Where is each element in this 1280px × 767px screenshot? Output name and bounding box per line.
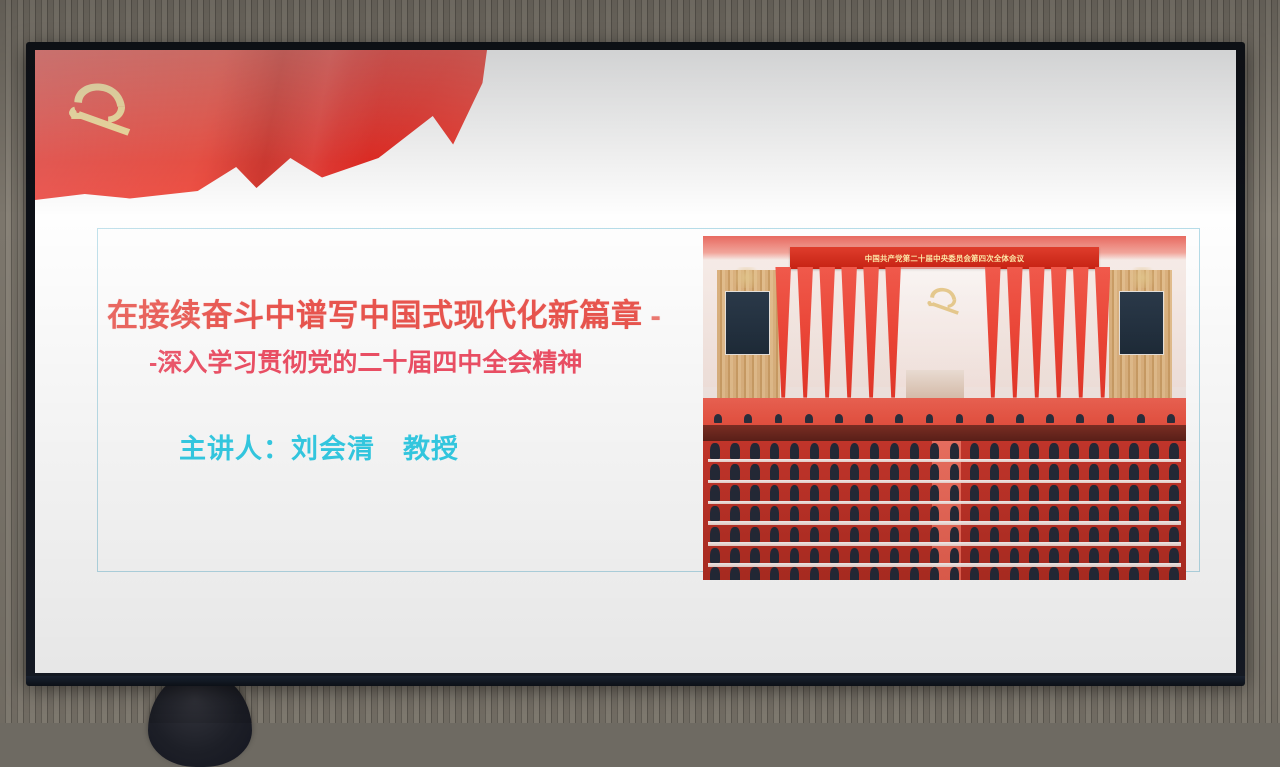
photo-audience-row [703,548,1186,563]
photo-presidium-person [865,414,873,424]
photo-presidium-person [1137,414,1145,424]
photo-audience-desk [708,521,1181,524]
photo-rostrum-desk [703,425,1186,440]
photo-stage-flag [1007,267,1023,398]
photo-audience-desk [708,501,1181,504]
cpc-party-flag [35,50,487,200]
slide-speaker-line: 主讲人：刘会清 教授 [179,427,737,466]
photo-audience-row [703,464,1186,479]
slide-main-title: 在接续奋斗中谱写中国式现代化新篇章- [107,290,737,335]
photo-audience-desk [708,459,1181,462]
photo-audience-row [703,527,1186,542]
photo-stage-flag [819,267,835,398]
photo-audience-row [703,567,1186,580]
photo-audience-row [703,443,1186,458]
conference-room-background: 在接续奋斗中谱写中国式现代化新篇章- -深入学习贯彻党的二十届四中全会精神 主讲… [0,0,1280,723]
photo-presidium-person [714,414,722,424]
photo-presidium-person [775,414,783,424]
monitor-bottom-trim [26,676,1245,686]
photo-presidium-person [895,414,903,424]
photo-side-screen-left [725,291,770,355]
photo-audience-desk [708,563,1181,566]
photo-stage-flag [863,267,879,398]
photo-wall-medallion-right [1126,267,1160,288]
photo-presidium-row [703,410,1186,424]
photo-stage-flag [1029,267,1045,398]
photo-hammer-and-sickle-emblem [914,284,975,318]
photo-presidium-person [744,414,752,424]
photo-presidium-person [926,414,934,424]
photo-stage-flag [1073,267,1089,398]
main-title-text: 在接续奋斗中谱写中国式现代化新篇章 [107,298,643,333]
wall-display-monitor: 在接续奋斗中谱写中国式现代化新篇章- -深入学习贯彻党的二十届四中全会精神 主讲… [26,42,1245,682]
photo-presidium-person [1107,414,1115,424]
photo-presidium-person [805,414,813,424]
photo-wall-medallion-left [730,267,764,288]
hammer-and-sickle-emblem [63,76,141,142]
photo-presidium-person [1167,414,1175,424]
photo-audience-desk [708,542,1181,545]
photo-stage-flag [775,267,791,398]
presentation-slide: 在接续奋斗中谱写中国式现代化新篇章- -深入学习贯彻党的二十届四中全会精神 主讲… [35,50,1236,673]
photo-stage-flag [1095,267,1111,398]
photo-presidium-person [1076,414,1084,424]
photo-side-screen-right [1119,291,1164,355]
photo-stage-flag [1051,267,1067,398]
photo-audience-area [703,441,1186,580]
photo-stage-flag [841,267,857,398]
photo-audience-row [703,506,1186,521]
photo-presidium-person [835,414,843,424]
slide-text-block: 在接续奋斗中谱写中国式现代化新篇章- -深入学习贯彻党的二十届四中全会精神 主讲… [107,290,737,466]
display-screen: 在接续奋斗中谱写中国式现代化新篇章- -深入学习贯彻党的二十届四中全会精神 主讲… [35,50,1236,673]
photo-audience-row [703,485,1186,500]
photo-presidium-person [1016,414,1024,424]
photo-presidium-person [1046,414,1054,424]
photo-presidium-person [986,414,994,424]
photo-stage-flag [797,267,813,398]
plenary-session-hall-photo: 中国共产党第二十届中央委员会第四次全体会议 [703,236,1186,580]
slide-subtitle: -深入学习贯彻党的二十届四中全会精神 [149,343,737,379]
photo-audience-desk [708,480,1181,483]
main-title-dash: - [643,298,662,333]
photo-presidium-person [956,414,964,424]
